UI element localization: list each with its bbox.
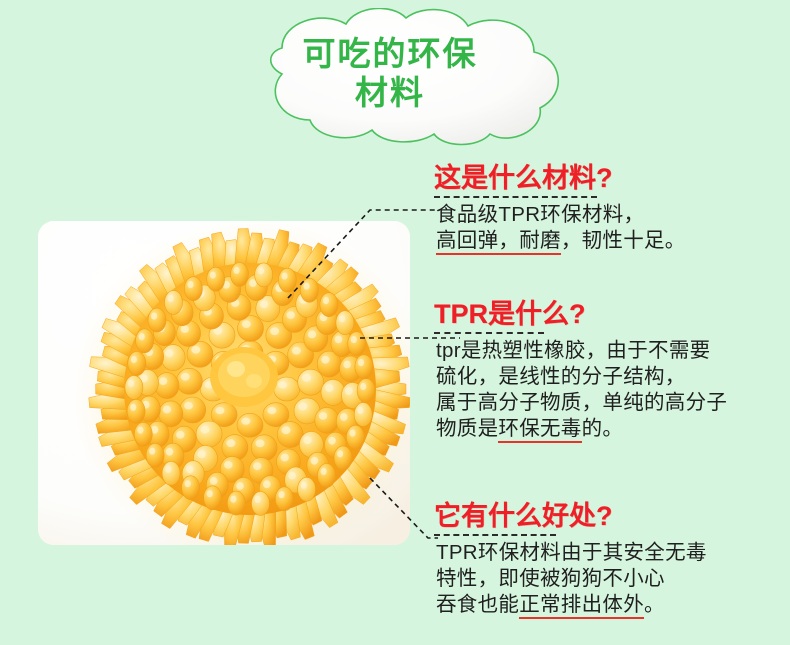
info-section-1: 这是什么材料? 食品级TPR环保材料，高回弹，耐磨，韧性十足。 bbox=[434, 163, 784, 254]
ball-nub bbox=[237, 413, 263, 437]
body-text: 硫化，是线性的分子结构， bbox=[436, 365, 686, 388]
section-heading: 这是什么材料? bbox=[434, 163, 784, 193]
ball-nub bbox=[125, 375, 143, 399]
ball-nub bbox=[251, 435, 277, 461]
section-heading: TPR是什么? bbox=[434, 299, 784, 329]
highlighted-text: 高回弹，耐磨 bbox=[436, 229, 561, 255]
body-line: 吞食也能正常排出体外。 bbox=[436, 592, 784, 618]
ball-nub bbox=[252, 492, 270, 516]
poster-root: 可吃的环保 材料 bbox=[0, 0, 790, 645]
heading-dashed-rule bbox=[434, 534, 556, 536]
body-line: 物质是环保无毒的。 bbox=[436, 416, 784, 442]
section-heading: 它有什么好处? bbox=[434, 501, 784, 531]
highlighted-text: 环保无毒 bbox=[498, 417, 581, 443]
ball-nub bbox=[354, 403, 372, 427]
ball-nub bbox=[134, 422, 152, 446]
body-text: 吞食也能 bbox=[436, 593, 519, 616]
info-section-3: 它有什么好处? TPR环保材料由于其安全无毒特性，即使被狗狗不小心吞食也能正常排… bbox=[434, 501, 784, 618]
body-line: tpr是热塑性橡胶，由于不需要 bbox=[436, 338, 784, 364]
ball-nub bbox=[180, 397, 206, 423]
ball-nub bbox=[127, 399, 145, 423]
ball-nub bbox=[176, 368, 202, 394]
body-line: 食品级TPR环保材料， bbox=[436, 202, 784, 228]
heading-dashed-rule bbox=[434, 196, 597, 198]
ball-nub bbox=[315, 407, 339, 433]
body-text: ，韧性十足。 bbox=[561, 229, 686, 252]
ball-nub bbox=[161, 345, 185, 371]
ball-nub bbox=[182, 476, 200, 500]
ball-nub bbox=[321, 379, 345, 405]
body-line: 特性，即使被狗狗不小心 bbox=[436, 566, 784, 592]
ball-nub bbox=[346, 425, 364, 449]
info-section-2: TPR是什么? tpr是热塑性橡胶，由于不需要硫化，是线性的分子结构，属于高分子… bbox=[434, 299, 784, 442]
ball-nub bbox=[162, 461, 180, 485]
ball-nub bbox=[298, 369, 324, 395]
ball-nub bbox=[355, 355, 373, 379]
section-body: 食品级TPR环保材料，高回弹，耐磨，韧性十足。 bbox=[436, 202, 784, 254]
ball-nub bbox=[128, 352, 146, 376]
ball-nub bbox=[148, 308, 166, 332]
ball-nub bbox=[334, 446, 352, 470]
ball-nub bbox=[336, 311, 354, 335]
banner-title: 可吃的环保 材料 bbox=[196, 34, 584, 112]
ball-nub bbox=[275, 487, 293, 511]
body-text: 的。 bbox=[582, 417, 624, 440]
ball-nub bbox=[155, 373, 179, 399]
body-line: TPR环保材料由于其安全无毒 bbox=[436, 540, 784, 566]
body-text: 特性，即使被狗狗不小心 bbox=[436, 567, 665, 590]
ball-nub bbox=[298, 477, 316, 501]
body-text: tpr是热塑性橡胶，由于不需要 bbox=[436, 339, 710, 362]
highlighted-text: 正常排出体外 bbox=[519, 593, 644, 619]
body-line: 高回弹，耐磨，韧性十足。 bbox=[436, 228, 784, 254]
ball-nub bbox=[136, 329, 154, 353]
ball-nub bbox=[318, 464, 336, 488]
ball-nub bbox=[204, 486, 222, 510]
ball-nub bbox=[227, 491, 245, 515]
section-body: TPR环保材料由于其安全无毒特性，即使被狗狗不小心吞食也能正常排出体外。 bbox=[436, 540, 784, 618]
ball-nub bbox=[196, 421, 222, 447]
cloud-banner: 可吃的环保 材料 bbox=[196, 8, 584, 148]
connector-line-1 bbox=[150, 160, 450, 300]
ball-nub bbox=[357, 379, 375, 403]
ball-nub bbox=[146, 443, 164, 467]
body-text: TPR环保材料由于其安全无毒 bbox=[436, 541, 707, 564]
body-line: 硫化，是线性的分子结构， bbox=[436, 364, 784, 390]
body-line: 属于高分子物质，单纯的高分子 bbox=[436, 390, 784, 416]
body-text: 食品级TPR环保材料， bbox=[436, 203, 644, 226]
body-text: 物质是 bbox=[436, 417, 498, 440]
section-body: tpr是热塑性橡胶，由于不需要硫化，是线性的分子结构，属于高分子物质，单纯的高分… bbox=[436, 338, 784, 442]
body-text: 。 bbox=[644, 593, 665, 616]
body-text: 属于高分子物质，单纯的高分子 bbox=[436, 391, 727, 414]
heading-dashed-rule bbox=[434, 332, 544, 334]
